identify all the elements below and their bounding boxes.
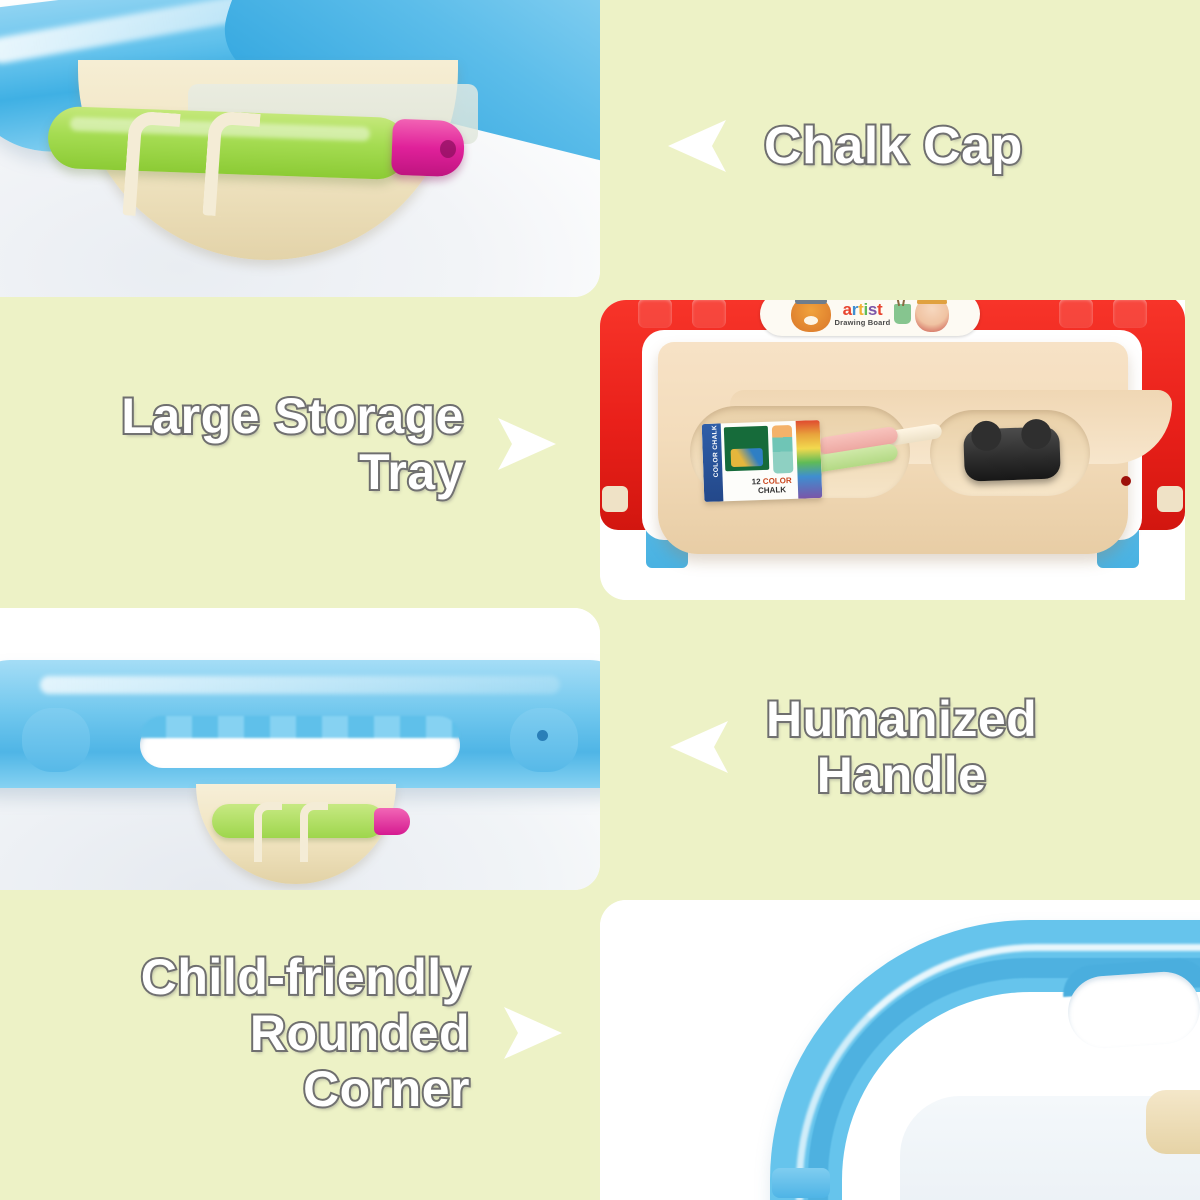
infographic-canvas: Chalk Cap Large Storage Tray artist Draw… xyxy=(0,0,1200,1200)
brand-tagline: Drawing Board xyxy=(835,319,891,327)
chalk-box-stick-graphic xyxy=(772,425,794,474)
chalk-clip-prong-right xyxy=(202,110,260,218)
arrow-left-icon xyxy=(664,117,730,175)
bear-mascot-icon xyxy=(791,300,831,332)
embossed-letter-b xyxy=(638,300,672,328)
handle-grip-wave-ridges xyxy=(140,716,460,738)
storage-tray-photo: artist Drawing Board COLOR CHALK 12 xyxy=(600,300,1185,600)
handle-photo xyxy=(0,608,600,890)
cream-tray-edge xyxy=(1146,1090,1200,1154)
callout-humanized-handle: Humanized Handle xyxy=(666,672,1136,822)
handle-screw-hole xyxy=(537,730,548,741)
green-chalk-tube xyxy=(212,804,384,838)
artist-brand-sticker: artist Drawing Board xyxy=(760,300,980,336)
brand-text-block: artist Drawing Board xyxy=(835,301,891,327)
paint-cup-icon xyxy=(894,304,911,324)
color-chalk-box: COLOR CHALK 12 COLOR CHALK xyxy=(702,420,823,502)
chalk-clip-prong-right xyxy=(300,802,328,862)
rounded-corner-photo xyxy=(600,900,1200,1200)
embossed-letter-1 xyxy=(1059,300,1093,328)
chalk-cap-photo xyxy=(0,0,600,297)
chalk-clip-prong-left xyxy=(122,110,180,218)
magenta-chalk-cap xyxy=(374,808,410,835)
embossed-letter-c xyxy=(692,300,726,328)
arrow-right-icon xyxy=(500,1004,566,1062)
callout-chalk-cap: Chalk Cap xyxy=(664,96,1164,196)
girl-mascot-icon xyxy=(915,300,949,332)
chalk-box-spine-text: COLOR CHALK xyxy=(711,422,720,480)
brand-name: artist xyxy=(835,301,891,318)
callout-rounded-corner: Child-friendly Rounded Corner xyxy=(0,928,566,1138)
handle-gloss-highlight xyxy=(40,676,560,694)
feature-label-rounded-corner: Child-friendly Rounded Corner xyxy=(141,949,470,1117)
embossed-letter-2 xyxy=(1113,300,1147,328)
grip-cutout xyxy=(1066,969,1200,1050)
frame-peg xyxy=(772,1168,830,1198)
chalk-box-artwork xyxy=(724,426,770,472)
feature-label-storage-tray: Large Storage Tray xyxy=(121,388,464,500)
handle-end-left xyxy=(22,708,90,772)
arrow-right-icon xyxy=(494,415,560,473)
chalk-box-spine: COLOR CHALK xyxy=(702,423,724,502)
arrow-left-icon xyxy=(666,718,732,776)
chalk-cap-opening xyxy=(440,140,456,158)
feature-label-humanized-handle: Humanized Handle xyxy=(766,691,1037,803)
black-eraser xyxy=(963,426,1061,481)
board-foot-left xyxy=(602,486,628,512)
chalk-box-front-text: 12 COLOR CHALK xyxy=(726,476,819,497)
chalk-clip-prong-left xyxy=(254,802,282,862)
board-foot-right xyxy=(1157,486,1183,512)
callout-storage-tray: Large Storage Tray xyxy=(0,374,560,514)
frame-screw-hole xyxy=(1121,476,1131,486)
feature-label-chalk-cap: Chalk Cap xyxy=(764,117,1023,175)
